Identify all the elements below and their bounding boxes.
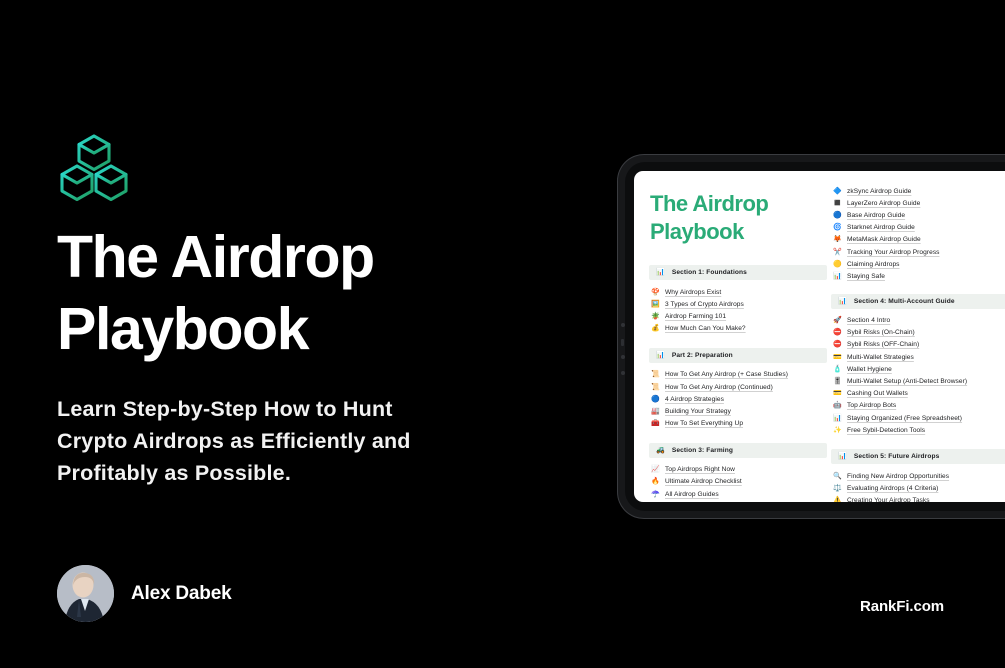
list-item[interactable]: 🌀Starknet Airdrop Guide [831, 222, 1005, 234]
list-item[interactable]: 🔥Ultimate Airdrop Checklist [649, 476, 827, 488]
section-header-label: Section 1: Foundations [672, 269, 747, 276]
section-block: 📊Section 5: Future Airdrops🔍Finding New … [831, 449, 1005, 502]
list-item[interactable]: ⛔Sybil Risks (On-Chain) [831, 327, 1005, 339]
list-item-label: zkSync Airdrop Guide [847, 188, 911, 195]
list-item[interactable]: 🦊MetaMask Airdrop Guide [831, 234, 1005, 246]
list-item-label: How To Set Everything Up [665, 420, 743, 427]
list-item[interactable]: 🖼️3 Types of Crypto Airdrops [649, 298, 827, 310]
list-item-label: Multi-Wallet Setup (Anti-Detect Browser) [847, 378, 967, 385]
bar-chart-icon: 📊 [838, 298, 847, 305]
seedling-pot-icon: 🪴 [651, 313, 659, 320]
speaker-dot-icon [621, 355, 625, 359]
controls-icon: 🎚️ [833, 378, 841, 385]
section-block: 📊Section 1: Foundations🍄Why Airdrops Exi… [649, 265, 827, 335]
warning-icon: ⚠️ [833, 497, 841, 502]
cover-page: The Airdrop Playbook Learn Step-by-Step … [0, 0, 1005, 668]
list-item[interactable]: 🍄Why Airdrops Exist [649, 286, 827, 298]
section-header[interactable]: 📊Section 5: Future Airdrops [831, 449, 1005, 464]
soap-icon: 🧴 [833, 366, 841, 373]
coin-icon: 🟡 [833, 261, 841, 268]
framed-picture-icon: 🖼️ [651, 301, 659, 308]
bar-chart-icon: 📊 [838, 453, 847, 460]
section-header-label: Section 4: Multi-Account Guide [854, 298, 955, 305]
section-header[interactable]: 🚜Section 3: Farming [649, 443, 827, 458]
magnifying-glass-icon: 🔍 [833, 473, 841, 480]
right-sections-container: 🔷zkSync Airdrop Guide◼️LayerZero Airdrop… [831, 185, 1005, 502]
section-block: 🚜Section 3: Farming📈Top Airdrops Right N… [649, 443, 827, 501]
list-item-label: Ultimate Airdrop Checklist [665, 478, 742, 485]
document-right-column: 🔷zkSync Airdrop Guide◼️LayerZero Airdrop… [827, 185, 1005, 502]
list-item-label: Finding New Airdrop Opportunities [847, 473, 949, 480]
list-item-label: Top Airdrops Right Now [665, 466, 735, 473]
list-item-label: Cashing Out Wallets [847, 390, 908, 397]
list-item[interactable]: 🚀Section 4 Intro [831, 315, 1005, 327]
list-item-label: Evaluating Airdrops (4 Criteria) [847, 485, 938, 492]
list-item[interactable]: ⚖️Evaluating Airdrops (4 Criteria) [831, 483, 1005, 495]
list-item-label: 4 Airdrop Strategies [665, 396, 724, 403]
starknet-icon: 🌀 [833, 224, 841, 231]
layerzero-icon: ◼️ [833, 200, 841, 207]
three-cubes-logo-icon [57, 130, 131, 204]
money-bag-icon: 💰 [651, 325, 659, 332]
robot-icon: 🤖 [833, 402, 841, 409]
list-item[interactable]: 📜How To Get Any Airdrop (+ Case Studies) [649, 369, 827, 381]
list-item-label: Sybil Risks (On-Chain) [847, 329, 915, 336]
chart-icon: 📊 [833, 415, 841, 422]
list-item[interactable]: 🏭Building Your Strategy [649, 405, 827, 417]
list-item-label: Creating Your Airdrop Tasks [847, 497, 930, 502]
chart-increasing-icon: 📈 [651, 466, 659, 473]
list-item-label: Section 4 Intro [847, 317, 890, 324]
toolbox-icon: 🧰 [651, 420, 659, 427]
cover-subtitle: Learn Step-by-Step How to Hunt Crypto Ai… [57, 394, 457, 489]
scroll-icon: 📜 [651, 371, 659, 378]
list-item-label: How To Get Any Airdrop (Continued) [665, 384, 773, 391]
bar-chart-icon: 📊 [656, 269, 665, 276]
tablet-screen: The Airdrop Playbook 📊Section 1: Foundat… [634, 171, 1005, 502]
list-item-label: How To Get Any Airdrop (+ Case Studies) [665, 371, 788, 378]
list-item[interactable]: 🧰How To Set Everything Up [649, 418, 827, 430]
tablet-device: The Airdrop Playbook 📊Section 1: Foundat… [618, 155, 1005, 518]
list-item-label: Wallet Hygiene [847, 366, 892, 373]
avatar [57, 565, 114, 622]
list-item-label: All Airdrop Guides [665, 491, 719, 498]
list-item-label: Top Airdrop Bots [847, 402, 896, 409]
document-page: The Airdrop Playbook 📊Section 1: Foundat… [634, 171, 1005, 502]
section-header-label: Part 2: Preparation [672, 352, 733, 359]
cover-title: The Airdrop Playbook [57, 222, 527, 366]
list-item[interactable]: ✂️Tracking Your Airdrop Progress [831, 246, 1005, 258]
section-block: 🔷zkSync Airdrop Guide◼️LayerZero Airdrop… [831, 185, 1005, 283]
left-panel: The Airdrop Playbook Learn Step-by-Step … [0, 0, 600, 668]
section-block: 📊Part 2: Preparation📜How To Get Any Aird… [649, 348, 827, 430]
prohibited-icon: ⛔ [833, 329, 841, 336]
list-item[interactable]: 🟡Claiming Airdrops [831, 258, 1005, 270]
list-item[interactable]: 🪴Airdrop Farming 101 [649, 310, 827, 322]
section-header[interactable]: 📊Part 2: Preparation [649, 348, 827, 363]
list-item[interactable]: 💳Cashing Out Wallets [831, 388, 1005, 400]
list-item[interactable]: ⛔Sybil Risks (OFF-Chain) [831, 339, 1005, 351]
section-header[interactable]: 📊Section 4: Multi-Account Guide [831, 294, 1005, 309]
list-item[interactable]: 🔷zkSync Airdrop Guide [831, 185, 1005, 197]
list-item-label: How Much Can You Make? [665, 325, 746, 332]
speaker-dot-icon [621, 323, 625, 327]
author-block: Alex Dabek [57, 565, 231, 622]
list-item[interactable]: 🧴Wallet Hygiene [831, 363, 1005, 375]
balance-icon: ⚖️ [833, 485, 841, 492]
list-item[interactable]: 💳Multi-Wallet Strategies [831, 351, 1005, 363]
list-item-label: Multi-Wallet Strategies [847, 354, 914, 361]
list-item-label: Starknet Airdrop Guide [847, 224, 915, 231]
metamask-fox-icon: 🦊 [833, 236, 841, 243]
list-item[interactable]: 🎚️Multi-Wallet Setup (Anti-Detect Browse… [831, 375, 1005, 387]
bar-chart-icon: 📊 [656, 352, 665, 359]
author-name: Alex Dabek [131, 583, 231, 605]
card-icon: 💳 [833, 390, 841, 397]
list-item[interactable]: 🔍Finding New Airdrop Opportunities [831, 470, 1005, 482]
list-item-label: Staying Organized (Free Spreadsheet) [847, 415, 962, 422]
site-brand: RankFi.com [860, 598, 944, 615]
list-item[interactable]: 🤖Top Airdrop Bots [831, 400, 1005, 412]
list-item-label: MetaMask Airdrop Guide [847, 236, 921, 243]
list-item-label: Why Airdrops Exist [665, 289, 721, 296]
section-block: 📊Section 4: Multi-Account Guide🚀Section … [831, 294, 1005, 437]
list-item-label: LayerZero Airdrop Guide [847, 200, 920, 207]
list-item[interactable]: 📈Top Airdrops Right Now [649, 464, 827, 476]
list-item-label: Base Airdrop Guide [847, 212, 905, 219]
list-item-label: Building Your Strategy [665, 408, 731, 415]
building-icon: 🏭 [651, 408, 659, 415]
wallet-icon: 💳 [833, 354, 841, 361]
blue-circle-icon: 🔵 [651, 396, 659, 403]
section-header-label: Section 3: Farming [672, 447, 733, 454]
list-item[interactable]: 📜How To Get Any Airdrop (Continued) [649, 381, 827, 393]
list-item-label: Free Sybil-Detection Tools [847, 427, 925, 434]
list-item[interactable]: ◼️LayerZero Airdrop Guide [831, 197, 1005, 209]
zksync-icon: 🔷 [833, 188, 841, 195]
list-item-label: Staying Safe [847, 273, 885, 280]
tractor-icon: 🚜 [656, 447, 665, 454]
list-item-label: Tracking Your Airdrop Progress [847, 249, 940, 256]
scroll-icon: 📜 [651, 384, 659, 391]
bar-chart-icon: 📊 [833, 273, 841, 280]
list-item[interactable]: 💰How Much Can You Make? [649, 323, 827, 335]
list-item[interactable]: ✨Free Sybil-Detection Tools [831, 424, 1005, 436]
left-sections-container: 📊Section 1: Foundations🍄Why Airdrops Exi… [649, 265, 827, 500]
rocket-icon: 🚀 [833, 317, 841, 324]
base-icon: 🔵 [833, 212, 841, 219]
document-left-column: The Airdrop Playbook 📊Section 1: Foundat… [634, 185, 827, 502]
section-header-label: Section 5: Future Airdrops [854, 453, 940, 460]
umbrella-icon: ☂️ [651, 491, 659, 498]
side-button[interactable] [621, 339, 624, 346]
mushroom-icon: 🍄 [651, 289, 659, 296]
prohibited-icon: ⛔ [833, 341, 841, 348]
crossed-tools-icon: ✂️ [833, 249, 841, 256]
list-item[interactable]: 📊Staying Safe [831, 270, 1005, 282]
sparkle-icon: ✨ [833, 427, 841, 434]
list-item-label: Sybil Risks (OFF-Chain) [847, 341, 919, 348]
fire-icon: 🔥 [651, 478, 659, 485]
list-item-label: Airdrop Farming 101 [665, 313, 726, 320]
section-header[interactable]: 📊Section 1: Foundations [649, 265, 827, 280]
document-title: The Airdrop Playbook [650, 190, 827, 245]
list-item[interactable]: 🔵4 Airdrop Strategies [649, 393, 827, 405]
list-item[interactable]: ⚠️Creating Your Airdrop Tasks [831, 495, 1005, 502]
list-item-label: Claiming Airdrops [847, 261, 900, 268]
list-item[interactable]: 🔵Base Airdrop Guide [831, 209, 1005, 221]
list-item[interactable]: 📊Staying Organized (Free Spreadsheet) [831, 412, 1005, 424]
list-item[interactable]: ☂️All Airdrop Guides [649, 488, 827, 500]
speaker-dot-icon [621, 371, 625, 375]
list-item-label: 3 Types of Crypto Airdrops [665, 301, 744, 308]
